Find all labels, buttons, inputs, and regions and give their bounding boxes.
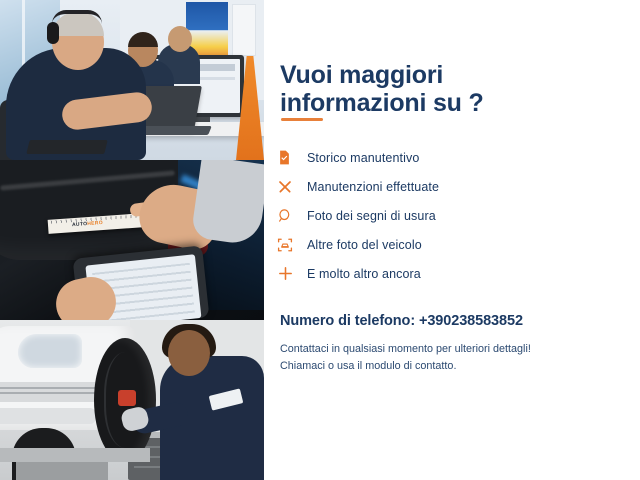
agent-head-3 [168,26,192,52]
ruler-brand-suffix: HERO [87,220,103,227]
call-center-agents-photo [0,0,264,160]
list-item: E molto altro ancora [277,259,547,288]
page-title: Vuoi maggiori informazioni su ? [280,61,530,118]
mechanic-tool [118,390,136,406]
plus-icon [277,263,307,285]
headset-band [52,10,102,24]
list-item-label: Manutenzioni effettuate [307,180,439,194]
feature-list: Storico manutentivo Manutenzioni effettu… [277,143,547,288]
headset-earpiece [47,22,59,44]
magnifier-icon [277,205,307,227]
list-item-label: E molto altro ancora [307,267,421,281]
mechanic-wheel-inspection-photo [0,320,264,480]
title-divider [281,118,323,121]
list-item: Altre foto del veicolo [277,230,547,259]
list-item: Storico manutentivo [277,143,547,172]
car-lift-platform [0,448,150,462]
wrench-screwdriver-icon [277,176,307,198]
photo-column: AUTOHERO [0,0,264,480]
contact-subtext-line-2: Chiamaci o usa il modulo di contatto. [280,358,630,375]
list-item: Manutenzioni effettuate [277,172,547,201]
list-item-label: Foto dei segni di usura [307,209,436,223]
inspector-sleeve [191,160,264,246]
phone-number-line[interactable]: Numero di telefono: +390238583852 [280,313,523,329]
mechanic-head [168,330,210,376]
ruler-brand-text: AUTOHERO [72,220,103,228]
wall-notice [232,4,256,56]
list-item-label: Altre foto del veicolo [307,238,422,252]
list-item-label: Storico manutentivo [307,151,419,165]
content-panel: Vuoi maggiori informazioni su ? Storico … [264,0,640,480]
car-headlight [18,334,82,368]
contact-subtext-line-1: Contattaci in qualsiasi momento per ulte… [280,341,630,358]
ruler-brand-prefix: AUTO [72,221,88,228]
vehicle-inspection-ruler-photo: AUTOHERO [0,160,264,320]
car-grille [0,382,108,402]
desk-tablet [26,140,107,154]
list-item: Foto dei segni di usura [277,201,547,230]
contact-subtext: Contattaci in qualsiasi momento per ulte… [280,341,630,374]
autohero-info-banner: AUTOHERO [0,0,640,480]
checklist-document-icon [277,147,307,169]
car-scan-frame-icon [277,234,307,256]
title-line-2: informazioni su ? [280,89,484,117]
car-lift-base [16,462,108,480]
car-bumper [0,408,96,424]
title-line-1: Vuoi maggiori [280,61,443,89]
